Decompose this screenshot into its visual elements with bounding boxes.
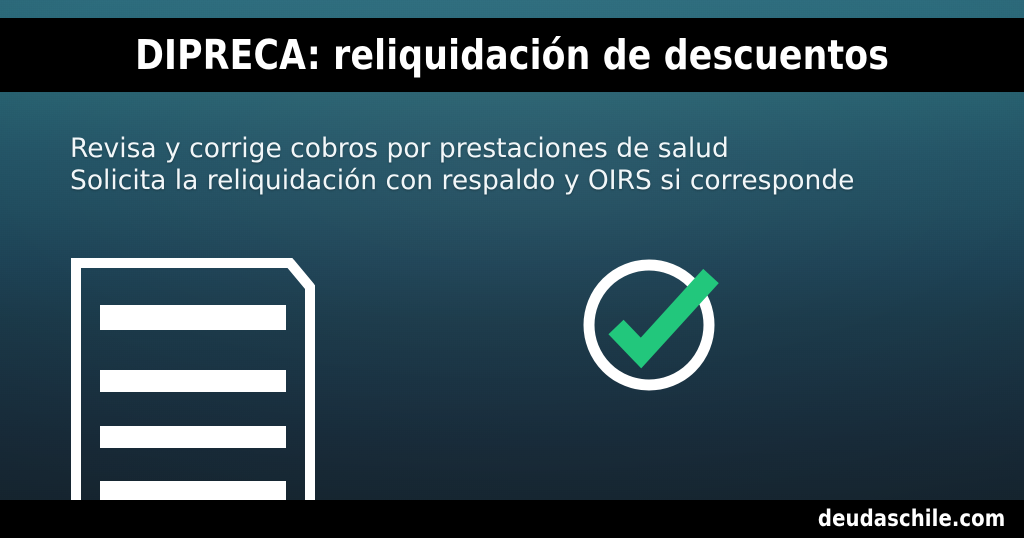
- check-circle-icon: [578, 252, 726, 400]
- body-line-1: Revisa y corrige cobros por prestaciones…: [70, 133, 854, 165]
- page-title: DIPRECA: reliquidación de descuentos: [135, 35, 889, 76]
- body-copy: Revisa y corrige cobros por prestaciones…: [70, 133, 854, 197]
- document-icon: [71, 258, 315, 526]
- slide-canvas: DIPRECA: reliquidación de descuentos Rev…: [0, 0, 1024, 538]
- body-line-2: Solicita la reliquidación con respaldo y…: [70, 165, 854, 197]
- title-band: DIPRECA: reliquidación de descuentos: [0, 18, 1024, 92]
- footer-bar: deudaschile.com: [0, 500, 1024, 538]
- site-watermark: deudaschile.com: [818, 508, 1005, 531]
